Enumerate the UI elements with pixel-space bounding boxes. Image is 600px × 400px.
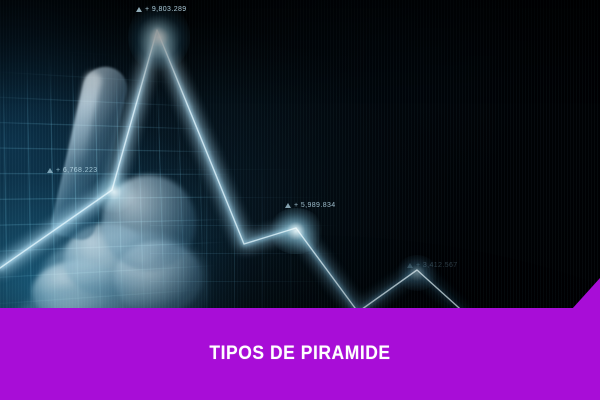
- page-title: TIPOS DE PIRAMIDE: [24, 308, 576, 400]
- image-canvas: + 9,803.289 + 6,768.223 + 5,989.834 + 3,…: [0, 0, 600, 400]
